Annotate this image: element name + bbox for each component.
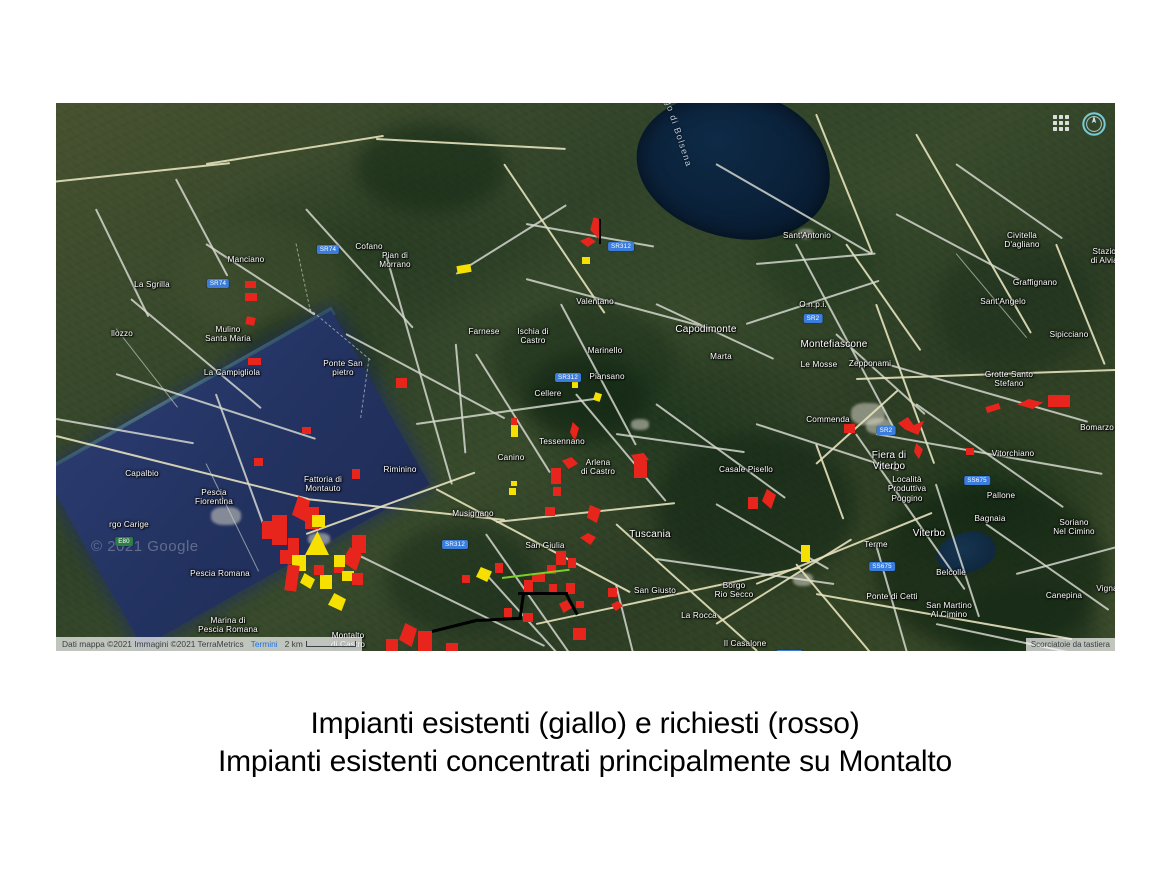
plant-polygon-requested: [608, 588, 617, 597]
road-shield: SR312: [442, 540, 468, 549]
plant-polygon-requested: [495, 563, 503, 573]
plant-polygon-requested: [576, 601, 584, 608]
scale-bar: [306, 641, 356, 647]
plant-polygon-requested: [262, 521, 273, 539]
plant-polygon-requested: [248, 358, 261, 365]
plant-polygon-requested: [966, 448, 974, 455]
plant-polygon-requested: [314, 565, 324, 575]
plant-polygon-requested: [1048, 395, 1070, 407]
plant-polygon-requested: [352, 573, 363, 585]
plant-polygon-requested: [634, 461, 647, 478]
map-attribution-bar: Dati mappa ©2021 Immagini ©2021 TerraMet…: [56, 637, 362, 651]
plant-polygon-requested: [462, 575, 470, 583]
plant-polygon-requested: [396, 378, 407, 388]
keyboard-shortcuts-label[interactable]: Scorciatoie da tastiera: [1026, 638, 1115, 651]
plant-polygon-requested: [386, 639, 398, 651]
plant-polygon-existing: [312, 515, 325, 527]
urban-area: [211, 507, 241, 525]
plant-polygon-existing: [572, 381, 578, 388]
road-shield: E80: [115, 537, 133, 546]
terms-link[interactable]: Termini: [251, 639, 278, 649]
plant-polygon-requested: [504, 608, 512, 617]
plant-polygon-existing: [334, 555, 345, 567]
road-shield: SS675: [869, 562, 895, 571]
plant-polygon-requested: [556, 551, 566, 565]
plant-polygon-requested: [272, 515, 287, 545]
plant-polygon-requested: [748, 497, 758, 509]
fullscreen-icon[interactable]: [1053, 115, 1069, 131]
plant-polygon-requested: [245, 293, 257, 301]
plant-polygon-requested: [551, 468, 561, 484]
urban-area: [798, 229, 814, 239]
plant-polygon-existing: [509, 488, 516, 495]
map-canvas[interactable]: © 2021 Google La SgrillaMancianoCofanoPi…: [56, 103, 1115, 651]
plant-polygon-requested: [446, 643, 458, 651]
plant-polygon-existing: [582, 257, 590, 264]
plant-polygon-requested: [418, 631, 432, 651]
plant-polygon-requested: [511, 418, 517, 425]
google-watermark: © 2021 Google: [91, 538, 199, 555]
plant-polygon-requested: [245, 281, 256, 288]
plant-polygon-requested: [523, 613, 533, 622]
plant-polygon-existing: [320, 575, 332, 589]
plant-polygon-requested: [553, 487, 561, 496]
road-shield: SR2: [877, 426, 896, 435]
plant-polygon-requested: [280, 550, 292, 564]
plant-polygon-requested: [352, 469, 360, 479]
road-shield: SR312: [555, 373, 581, 382]
plant-polygon-requested: [352, 535, 366, 553]
plant-polygon-existing: [801, 545, 810, 562]
connection-line: [599, 219, 601, 244]
caption-line-1: Impianti esistenti (giallo) e richiesti …: [0, 705, 1170, 743]
plant-polygon-requested: [549, 584, 557, 592]
connection-line: [518, 592, 568, 595]
plant-polygon-requested: [245, 316, 255, 326]
plant-polygon-requested: [545, 507, 555, 516]
plant-polygon-existing: [511, 425, 518, 437]
plant-polygon-requested: [568, 558, 576, 568]
scale-control: 2 km: [285, 639, 356, 649]
attribution-text: Dati mappa ©2021 Immagini ©2021 TerraMet…: [62, 639, 244, 649]
figure-caption: Impianti esistenti (giallo) e richiesti …: [0, 705, 1170, 781]
plant-polygon-existing: [511, 481, 517, 486]
road-shield: SR74: [207, 279, 229, 288]
road-shield: SR2: [804, 314, 823, 323]
caption-line-2: Impianti esistenti concentrati principal…: [0, 743, 1170, 781]
plant-polygon-requested: [302, 427, 311, 434]
road-shield: SR312: [608, 242, 634, 251]
road-shield: SS675: [964, 476, 990, 485]
plant-polygon-requested: [254, 458, 263, 466]
urban-area: [631, 419, 649, 430]
road-shield: SR74: [317, 245, 339, 254]
scale-label: 2 km: [285, 639, 303, 649]
plant-polygon-requested: [524, 580, 533, 592]
plant-polygon-requested: [573, 628, 586, 640]
plant-polygon-requested: [844, 424, 855, 433]
compass-icon[interactable]: [1081, 111, 1107, 137]
road-shield: SS675: [776, 650, 802, 651]
